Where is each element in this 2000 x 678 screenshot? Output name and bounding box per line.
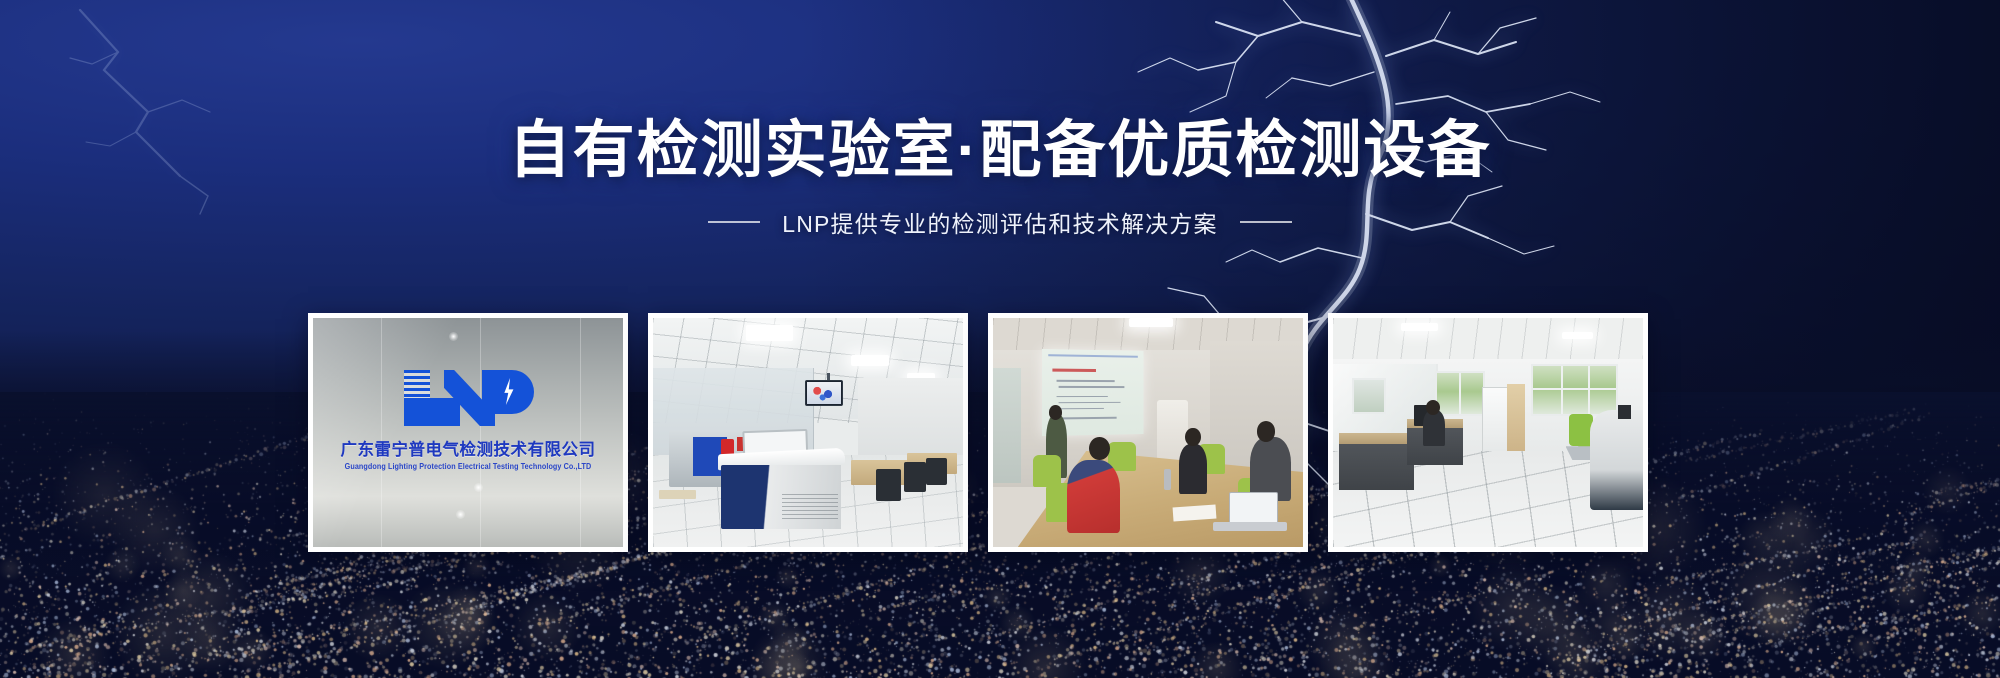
slide-body-line: [1059, 386, 1124, 388]
attendee-head: [1257, 421, 1276, 442]
lab-stool: [659, 490, 696, 499]
page-title: 自有检测实验室·配备优质检测设备: [0, 118, 2000, 185]
slide-body-line: [1056, 380, 1113, 382]
logo-bars: [404, 370, 430, 398]
right-rule-decoration: [1240, 221, 1292, 223]
photo-meeting-room: [993, 318, 1303, 547]
photo-frame-logo-wall[interactable]: 广东雷宁普电气检测技术有限公司 Guangdong Lighting Prote…: [308, 313, 628, 552]
wall-monitor: [805, 380, 843, 406]
page-subtitle: LNP提供专业的检测评估和技术解决方案: [782, 205, 1218, 239]
attendee-body-dark: [1179, 444, 1207, 494]
laptop-base: [1213, 522, 1287, 531]
window-mullion: [1459, 373, 1461, 415]
ceiling-vent: [1401, 323, 1438, 331]
photo-gallery: 广东雷宁普电气检测技术有限公司 Guangdong Lighting Prote…: [308, 313, 1648, 552]
logo-letter-l-foot: [404, 398, 460, 426]
office-desk-top: [1339, 433, 1413, 444]
slide-toolbar: [1048, 354, 1138, 358]
ceiling-light: [1129, 318, 1172, 327]
office-window: [1435, 371, 1485, 417]
hero-copy: 自有检测实验室·配备优质检测设备 LNP提供专业的检测评估和技术解决方案: [0, 118, 2000, 239]
left-rule-decoration: [708, 221, 760, 223]
slide-body-line: [1056, 417, 1115, 419]
wooden-shelf: [1507, 384, 1526, 450]
counter-item: [1618, 405, 1630, 419]
glass-door: [993, 368, 1021, 483]
ceiling-light: [746, 325, 793, 341]
company-name-en: Guangdong Lighting Protection Electrical…: [345, 462, 592, 472]
attendee-body-red: [1067, 460, 1120, 533]
office-window: [1531, 364, 1618, 417]
reception-counter: [1590, 410, 1643, 511]
console-vents: [782, 494, 838, 522]
attendee-head: [1185, 428, 1201, 446]
window-mullion: [1533, 388, 1616, 390]
slide-body-line: [1056, 396, 1107, 398]
slide-title-text: [1052, 368, 1096, 371]
company-logo: 广东雷宁普电气检测技术有限公司 Guangdong Lighting Prote…: [313, 366, 623, 471]
wall-glint: [456, 510, 465, 519]
ceiling-vent: [1562, 332, 1593, 339]
office-worker-body: [1423, 410, 1445, 447]
hero-banner: 自有检测实验室·配备优质检测设备 LNP提供专业的检测评估和技术解决方案: [0, 0, 2000, 678]
wall-glint: [474, 483, 483, 492]
company-name-cn: 广东雷宁普电气检测技术有限公司: [341, 436, 596, 460]
photo-laboratory: [653, 318, 963, 547]
control-console: [718, 451, 845, 529]
slide-body-line: [1059, 408, 1104, 410]
photo-office: [1333, 318, 1643, 547]
office-desk: [1339, 437, 1413, 490]
photo-frame-office[interactable]: [1328, 313, 1648, 552]
attendee-head: [1089, 437, 1109, 460]
paper-documents: [1172, 504, 1216, 521]
photo-frame-meeting-room[interactable]: [988, 313, 1308, 552]
laptop-screen: [1229, 492, 1279, 524]
photo-frame-laboratory[interactable]: [648, 313, 968, 552]
lab-chair: [876, 469, 901, 501]
subtitle-row: LNP提供专业的检测评估和技术解决方案: [0, 205, 2000, 239]
slide-body-line: [1059, 402, 1120, 404]
lab-chair: [926, 458, 948, 485]
thermos-bottle: [1164, 469, 1172, 490]
lnp-logo-mark: [398, 366, 538, 430]
ceiling-light: [851, 355, 888, 366]
lab-chair: [904, 462, 926, 492]
monitor-screen-content: [807, 382, 841, 404]
photo-logo-wall: 广东雷宁普电气检测技术有限公司 Guangdong Lighting Prote…: [313, 318, 623, 547]
office-window: [1352, 378, 1386, 415]
